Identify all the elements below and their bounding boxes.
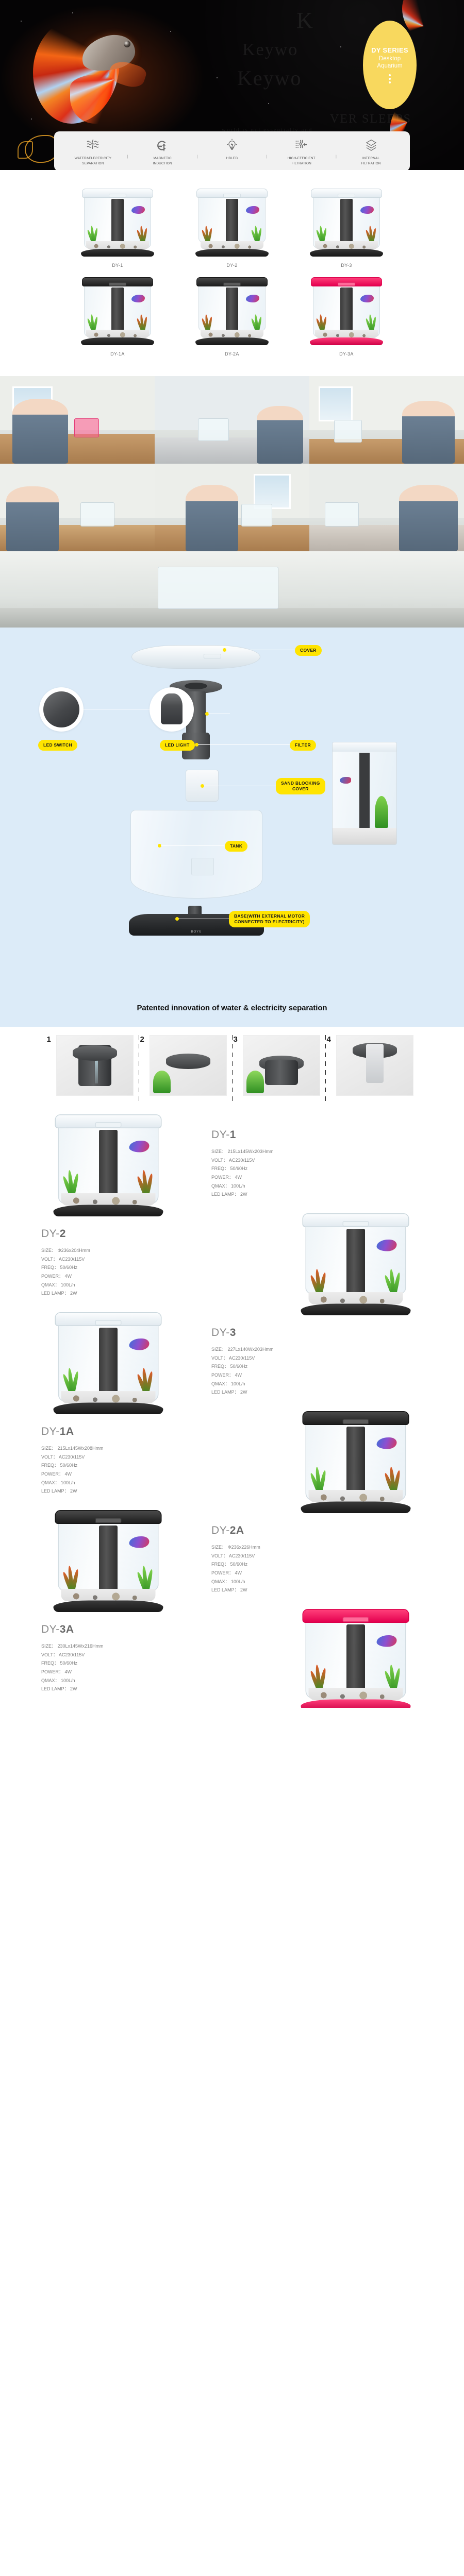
spec-line: SIZE： 215Lx145Wx208Hmm: [41, 1444, 273, 1453]
spec-title-suffix: 2: [60, 1228, 66, 1240]
product-cell-dy3[interactable]: DY-3: [295, 185, 398, 268]
magnetic-induction-icon: [156, 138, 169, 153]
spec-line: POWER： 4W: [41, 1668, 273, 1676]
spec-title-suffix: 3A: [60, 1623, 74, 1635]
spec-photo: [31, 1523, 186, 1596]
spec-title-prefix: DY-: [211, 1327, 230, 1338]
product-variant-grid: DY-1 DY-2: [0, 170, 464, 376]
feature-item-high-efficient-filtration: HIGH-EFFICIENT FILTRATION |: [269, 138, 335, 166]
fish-icon: [131, 206, 145, 214]
star-speck: [268, 103, 269, 104]
spec-line: POWER： 4W: [211, 1173, 433, 1182]
step-number: 4: [327, 1035, 331, 1044]
feature-separator: |: [266, 155, 267, 159]
patent-heading: Patented innovation of water & electrici…: [0, 1001, 464, 1022]
fish-icon: [360, 295, 374, 302]
aquarium-photo: [51, 1308, 167, 1416]
cover-part: [131, 645, 260, 669]
feature-item-hbled: HBLED |: [199, 138, 265, 161]
label-tank: TANK: [225, 841, 247, 852]
spec-title-suffix: 1: [230, 1129, 236, 1141]
product-caption: DY-3A: [339, 351, 354, 357]
product-caption: DY-1: [112, 263, 123, 268]
spec-line: QMAX： 100L/h: [41, 1281, 273, 1290]
hbled-bulb-icon: [225, 138, 239, 153]
feature-separator: |: [336, 155, 337, 159]
aquarium-thumbnail: [193, 274, 271, 346]
product-page: K Keywo Keywo VER SLEEPS world is not es…: [0, 0, 464, 1708]
feature-strip: WATER&ELECTRICITY SEPARATION | MAGNETIC …: [54, 131, 410, 170]
spec-title-prefix: DY-: [41, 1426, 60, 1437]
spec-line: FREQ： 50/60Hz: [41, 1659, 273, 1668]
fish-icon: [340, 777, 351, 784]
step-number: 2: [140, 1035, 144, 1044]
spec-title-prefix: DY-: [211, 1129, 230, 1141]
spec-title-suffix: 2A: [230, 1524, 244, 1536]
spec-list: SIZE： 230Lx145Wx216Hmm VOLT： AC230/115V …: [41, 1642, 273, 1693]
step-divider: [325, 1035, 326, 1102]
spec-line: POWER： 4W: [211, 1569, 433, 1578]
led-light-closeup: [150, 687, 194, 732]
spec-text: DY-1 SIZE： 215Lx145Wx203Hmm VOLT： AC230/…: [191, 1129, 433, 1199]
spec-line: SIZE： 230Lx145Wx216Hmm: [41, 1642, 273, 1651]
aquarium-thumbnail: [308, 274, 385, 346]
lifestyle-photo-woman-tank: [309, 376, 464, 464]
spec-block-dy3: DY-3 SIZE： 227Lx140Wx203Hmm VOLT： AC230/…: [0, 1312, 464, 1411]
spec-line: LED LAMP： 2W: [41, 1487, 273, 1496]
aquarium-photo: [298, 1406, 414, 1515]
star-speck: [217, 77, 218, 78]
step-4: 4: [327, 1035, 418, 1102]
spec-title-prefix: DY-: [211, 1524, 230, 1536]
product-cell-dy1a[interactable]: DY-1A: [66, 274, 169, 357]
label-led-switch: LED SWITCH: [38, 740, 77, 751]
star-speck: [340, 46, 341, 47]
product-grid-row-2: DY-1A DY-2A: [0, 274, 464, 357]
feature-label: HIGH-EFFICIENT FILTRATION: [288, 156, 316, 166]
hero-banner: K Keywo Keywo VER SLEEPS world is not es…: [0, 0, 464, 170]
lifestyle-photo-boy-table: [0, 376, 155, 464]
spec-list: SIZE： 215Lx145Wx203Hmm VOLT： AC230/115V …: [211, 1147, 433, 1199]
spec-title: DY-3: [211, 1327, 433, 1339]
product-caption: DY-1A: [110, 351, 125, 357]
assembly-steps: 1 2 3 4: [0, 1027, 464, 1114]
spec-line: POWER： 4W: [211, 1371, 433, 1380]
spec-line: FREQ： 50/60Hz: [211, 1560, 433, 1569]
spec-line: QMAX： 100L/h: [211, 1380, 433, 1388]
fish-icon: [131, 295, 145, 302]
spec-line: LED LAMP： 2W: [211, 1388, 433, 1397]
label-led-light: LED LIGHT: [160, 740, 195, 751]
step-number: 1: [47, 1035, 51, 1044]
spec-line: LED LAMP： 2W: [211, 1586, 433, 1595]
badge-dots-icon: [389, 74, 391, 83]
fish-icon: [377, 1437, 397, 1449]
product-cell-dy1[interactable]: DY-1: [66, 185, 169, 268]
spec-block-dy2: DY-2 SIZE： Φ236x204Hmm VOLT： AC230/115V …: [0, 1213, 464, 1312]
badge-subtitle: Desktop Aquarium: [377, 56, 402, 70]
spec-list: SIZE： 227Lx140Wx203Hmm VOLT： AC230/115V …: [211, 1345, 433, 1397]
spec-line: SIZE： Φ236x204Hmm: [41, 1246, 273, 1255]
spec-title: DY-1A: [41, 1426, 273, 1438]
fish-eye: [124, 41, 130, 47]
step-photo: [243, 1035, 320, 1096]
fish-icon: [246, 206, 259, 214]
spec-line: QMAX： 100L/h: [41, 1676, 273, 1685]
aquarium-thumbnail: [308, 185, 385, 258]
leader-line: [198, 744, 290, 745]
product-cell-dy2a[interactable]: DY-2A: [180, 274, 284, 357]
spec-line: QMAX： 100L/h: [41, 1479, 273, 1487]
spec-line: VOLT： AC230/115V: [211, 1552, 433, 1561]
product-caption: DY-2A: [225, 351, 239, 357]
spec-line: LED LAMP： 2W: [211, 1190, 433, 1199]
product-caption: DY-3: [341, 263, 352, 268]
leader-line: [204, 786, 276, 786]
step-photo: [56, 1035, 134, 1096]
aquarium-photo: [51, 1505, 167, 1614]
spec-title-suffix: 1A: [60, 1426, 74, 1437]
feature-label: INTERNAL FILTRATION: [361, 156, 380, 166]
aquarium-thumbnail: [79, 274, 156, 346]
spec-line: FREQ： 50/60Hz: [41, 1461, 273, 1470]
exploded-diagram-section: COVER LED SWITCH LED LIGHT FILTER SA: [0, 628, 464, 1027]
spec-line: FREQ： 50/60Hz: [41, 1263, 273, 1272]
lifestyle-row-1: [0, 376, 464, 464]
spec-text: DY-2A SIZE： Φ236x226Hmm VOLT： AC230/115V…: [191, 1524, 433, 1595]
product-cell-dy3a[interactable]: DY-3A: [295, 274, 398, 357]
step-photo: [336, 1035, 413, 1096]
brand-logo: BOYU: [191, 930, 202, 934]
spec-line: VOLT： AC230/115V: [41, 1453, 273, 1462]
leader-line: [161, 845, 224, 846]
spec-title: DY-1: [211, 1129, 433, 1141]
spec-title-prefix: DY-: [41, 1623, 60, 1635]
leader-line: [208, 714, 230, 714]
internal-filtration-layers-icon: [364, 138, 378, 153]
spec-text: DY-3A SIZE： 230Lx145Wx216Hmm VOLT： AC230…: [31, 1623, 273, 1693]
step-1: 1: [47, 1035, 138, 1102]
product-caption: DY-2: [226, 263, 237, 268]
leader-line: [226, 650, 294, 650]
plant-decor: [375, 796, 388, 828]
spec-line: SIZE： 227Lx140Wx203Hmm: [211, 1345, 433, 1354]
lifestyle-photo-wide-tank: [0, 551, 464, 628]
star-speck: [21, 21, 22, 22]
feature-separator: |: [196, 155, 197, 159]
feature-label: HBLED: [226, 156, 238, 161]
spec-line: QMAX： 100L/h: [211, 1182, 433, 1191]
spec-block-dy2a: DY-2A SIZE： Φ236x226Hmm VOLT： AC230/115V…: [0, 1510, 464, 1609]
feature-label: MAGNETIC INDUCTION: [153, 156, 172, 166]
spec-photo: [31, 1326, 186, 1398]
product-cell-dy2[interactable]: DY-2: [180, 185, 284, 268]
spec-block-dy1a: DY-1A SIZE： 215Lx145Wx208Hmm VOLT： AC230…: [0, 1411, 464, 1510]
fish-icon: [377, 1635, 397, 1647]
background-typography: Keywo: [237, 66, 302, 90]
spec-photo: [31, 1128, 186, 1200]
spec-text: DY-2 SIZE： Φ236x204Hmm VOLT： AC230/115V …: [31, 1228, 273, 1298]
spec-line: SIZE： 215Lx145Wx203Hmm: [211, 1147, 433, 1156]
feature-label: WATER&ELECTRICITY SEPARATION: [75, 156, 112, 166]
spec-line: VOLT： AC230/115V: [41, 1255, 273, 1264]
lifestyle-photo-woman-feeding: [0, 464, 155, 551]
lifestyle-photo-boy-watching: [155, 464, 309, 551]
spec-line: VOLT： AC230/115V: [41, 1651, 273, 1659]
lifestyle-gallery: [0, 376, 464, 628]
spec-text: DY-3 SIZE： 227Lx140Wx203Hmm VOLT： AC230/…: [191, 1327, 433, 1397]
label-sand-blocking-cover: SAND BLOCKING COVER: [276, 778, 325, 794]
spec-line: VOLT： AC230/115V: [211, 1156, 433, 1165]
feature-item-water-electricity: WATER&ELECTRICITY SEPARATION |: [60, 138, 126, 166]
step-number: 3: [234, 1035, 238, 1044]
aquarium-photo: [51, 1110, 167, 1218]
lifestyle-photo-office-desk: [155, 376, 309, 464]
assembled-tank-photo: [332, 742, 397, 845]
betta-fish-photo: [32, 13, 166, 132]
spec-line: VOLT： AC230/115V: [211, 1354, 433, 1363]
tank-part: [130, 810, 262, 899]
water-electricity-separation-icon: [86, 138, 100, 153]
spec-photo: [278, 1425, 433, 1497]
aquarium-thumbnail: [193, 185, 271, 258]
spec-text: DY-1A SIZE： 215Lx145Wx208Hmm VOLT： AC230…: [31, 1426, 273, 1496]
label-filter: FILTER: [290, 740, 316, 751]
leader-line: [178, 919, 229, 919]
background-typography: Keywo: [242, 40, 298, 60]
spec-list: SIZE： 215Lx145Wx208Hmm VOLT： AC230/115V …: [41, 1444, 273, 1496]
feature-item-magnetic-induction: MAGNETIC INDUCTION |: [129, 138, 195, 166]
spec-list: SIZE： Φ236x204Hmm VOLT： AC230/115V FREQ：…: [41, 1246, 273, 1298]
fish-icon: [360, 206, 374, 214]
spec-block-dy1: DY-1 SIZE： 215Lx145Wx203Hmm VOLT： AC230/…: [0, 1114, 464, 1213]
label-cover: COVER: [295, 645, 322, 656]
fish-icon: [129, 1141, 150, 1153]
spec-line: FREQ： 50/60Hz: [211, 1164, 433, 1173]
high-efficient-filtration-icon: [295, 138, 308, 153]
spec-list: SIZE： Φ236x226Hmm VOLT： AC230/115V FREQ：…: [211, 1543, 433, 1595]
led-switch-closeup: [39, 687, 84, 732]
aquarium-photo: [298, 1604, 414, 1708]
spec-line: SIZE： Φ236x226Hmm: [211, 1543, 433, 1552]
spec-line: POWER： 4W: [41, 1272, 273, 1281]
lifestyle-row-3: [0, 551, 464, 628]
spec-title: DY-2: [41, 1228, 273, 1240]
spec-line: QMAX： 100L/h: [211, 1578, 433, 1586]
fish-icon: [129, 1338, 150, 1350]
step-photo: [150, 1035, 227, 1096]
spec-title-prefix: DY-: [41, 1228, 60, 1240]
series-badge: DY SERIES Desktop Aquarium: [363, 21, 417, 109]
fish-icon: [377, 1240, 397, 1251]
fish-icon: [246, 295, 259, 302]
step-divider: [139, 1035, 139, 1102]
product-grid-row-1: DY-1 DY-2: [0, 185, 464, 268]
spec-block-dy3a: DY-3A SIZE： 230Lx145Wx216Hmm VOLT： AC230…: [0, 1609, 464, 1708]
lifestyle-photo-woman-desk: [309, 464, 464, 551]
lifestyle-row-2: [0, 464, 464, 551]
aquarium-photo: [298, 1209, 414, 1317]
spec-photo: [278, 1227, 433, 1299]
star-speck: [170, 31, 171, 32]
background-typography: K: [296, 7, 314, 33]
step-divider: [232, 1035, 233, 1102]
spec-line: LED LAMP： 2W: [41, 1685, 273, 1693]
spec-photo: [278, 1622, 433, 1694]
feature-item-internal-filtration: INTERNAL FILTRATION: [338, 138, 404, 166]
aquarium-thumbnail: [79, 185, 156, 258]
label-base: BASE(WITH EXTERNAL MOTOR CONNECTED TO EL…: [229, 911, 310, 927]
spec-title: DY-2A: [211, 1524, 433, 1537]
exploded-diagram: COVER LED SWITCH LED LIGHT FILTER SA: [0, 640, 464, 1001]
spec-title: DY-3A: [41, 1623, 273, 1636]
spec-line: POWER： 4W: [41, 1470, 273, 1479]
step-3: 3: [234, 1035, 324, 1102]
step-2: 2: [140, 1035, 231, 1102]
fish-icon: [129, 1536, 150, 1548]
badge-title: DY SERIES: [371, 46, 408, 54]
spec-line: LED LAMP： 2W: [41, 1289, 273, 1298]
spec-line: FREQ： 50/60Hz: [211, 1362, 433, 1371]
feature-separator: |: [127, 155, 128, 159]
spec-title-suffix: 3: [230, 1327, 236, 1338]
